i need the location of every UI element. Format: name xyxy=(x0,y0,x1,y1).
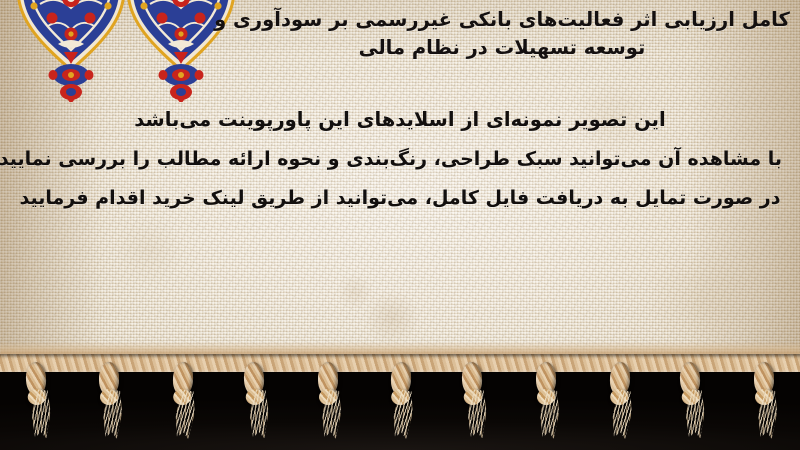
slide-body: این تصویر نمونه‌ای از اسلایدهای این پاور… xyxy=(18,110,782,228)
slide-body-line-3: در صورت تمایل به دریافت فایل کامل، می‌تو… xyxy=(18,189,782,208)
presentation-slide: کامل ارزیابی اثر فعالیت‌های بانکی غیررسم… xyxy=(0,0,800,450)
slide-title-line-1: کامل ارزیابی اثر فعالیت‌های بانکی غیررسم… xyxy=(212,6,792,34)
slide-text-layer: کامل ارزیابی اثر فعالیت‌های بانکی غیررسم… xyxy=(0,0,800,450)
slide-title-line-2: توسعه تسهیلات در نظام مالی xyxy=(212,34,792,62)
slide-body-line-1: این تصویر نمونه‌ای از اسلایدهای این پاور… xyxy=(18,110,782,130)
slide-body-line-2: با مشاهده آن می‌توانید سبک طراحی، رنگ‌بن… xyxy=(18,150,782,169)
slide-title: کامل ارزیابی اثر فعالیت‌های بانکی غیررسم… xyxy=(212,6,792,62)
